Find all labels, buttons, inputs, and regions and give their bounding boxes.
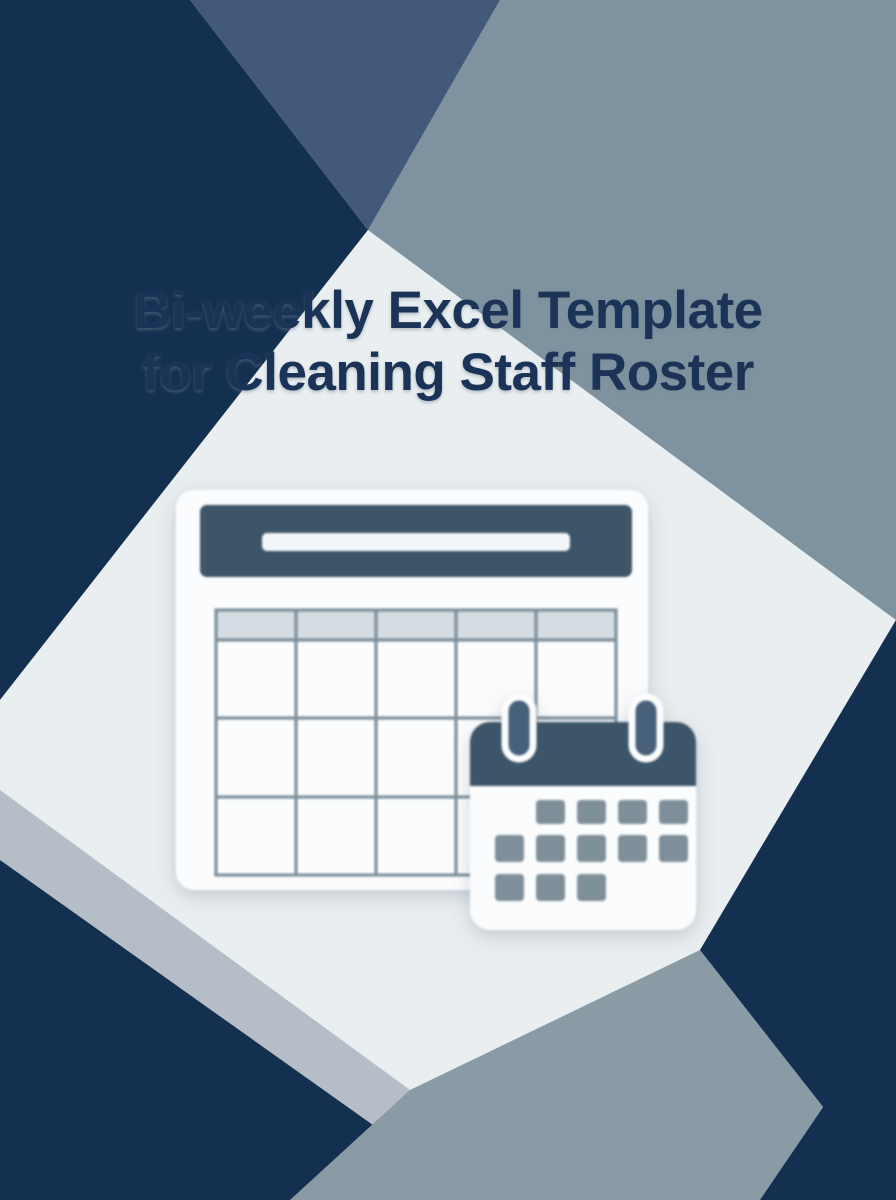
poster-canvas: Bi-weekly Excel Template for Cleaning St… xyxy=(0,0,896,1200)
background-geometry xyxy=(0,0,896,1200)
page-title: Bi-weekly Excel Template for Cleaning St… xyxy=(0,280,896,404)
title-line-2: for Cleaning Staff Roster xyxy=(0,342,896,404)
title-line-1: Bi-weekly Excel Template xyxy=(0,280,896,342)
